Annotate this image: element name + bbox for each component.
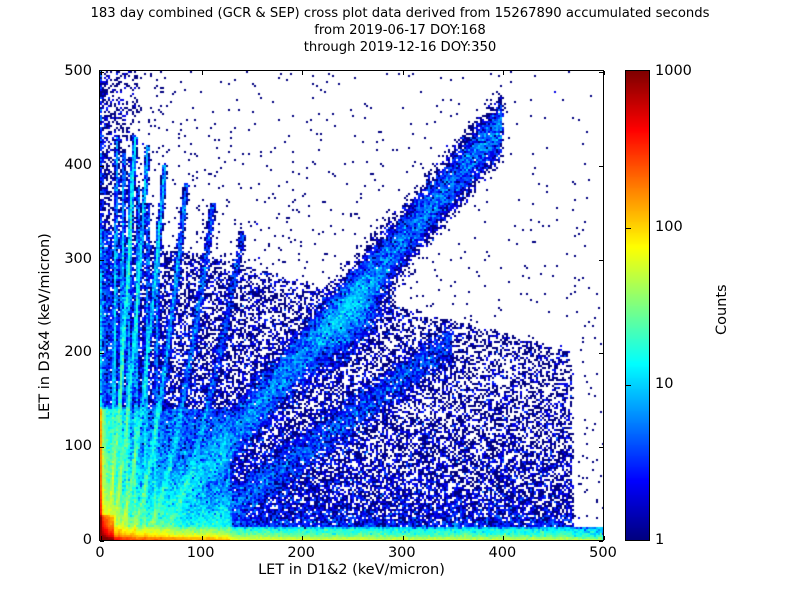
colorbar-gradient bbox=[626, 71, 649, 540]
y-tick-label: 300 bbox=[64, 251, 92, 267]
y-tick-mark bbox=[100, 72, 104, 73]
colorbar-tick-mark bbox=[626, 385, 631, 386]
colorbar-tick-mark bbox=[626, 228, 631, 229]
colorbar-tick-label: 100 bbox=[655, 219, 683, 235]
colorbar-tick-label: 1 bbox=[655, 532, 664, 548]
y-tick-mark bbox=[599, 541, 603, 542]
y-tick-mark bbox=[599, 447, 603, 448]
colorbar-tick-label: 1000 bbox=[655, 63, 692, 79]
x-tick-mark bbox=[202, 71, 203, 75]
x-tick-mark bbox=[302, 71, 303, 75]
x-tick-mark bbox=[604, 536, 605, 540]
y-tick-label: 100 bbox=[64, 438, 92, 454]
colorbar bbox=[625, 70, 650, 541]
x-tick-label: 300 bbox=[388, 545, 416, 561]
figure-canvas: 183 day combined (GCR & SEP) cross plot … bbox=[0, 0, 800, 600]
y-tick-mark bbox=[100, 447, 104, 448]
x-axis-label: LET in D1&2 (keV/micron) bbox=[99, 562, 604, 578]
y-tick-mark bbox=[100, 353, 104, 354]
colorbar-label: Counts bbox=[714, 284, 730, 335]
x-tick-label: 400 bbox=[489, 545, 517, 561]
y-tick-mark bbox=[100, 166, 104, 167]
x-tick-label: 100 bbox=[187, 545, 215, 561]
x-tick-mark bbox=[403, 536, 404, 540]
x-tick-mark bbox=[101, 536, 102, 540]
y-tick-mark bbox=[599, 353, 603, 354]
x-tick-mark bbox=[503, 536, 504, 540]
y-tick-label: 200 bbox=[64, 344, 92, 360]
title-line-2: from 2019-06-17 DOY:168 bbox=[0, 22, 800, 39]
heatmap-scatter-area bbox=[100, 71, 603, 540]
x-tick-mark bbox=[202, 536, 203, 540]
y-axis-label: LET in D3&4 (keV/micron) bbox=[37, 233, 53, 420]
x-tick-label: 200 bbox=[287, 545, 315, 561]
x-tick-mark bbox=[403, 71, 404, 75]
colorbar-tick-label: 10 bbox=[655, 376, 673, 392]
y-tick-mark bbox=[599, 72, 603, 73]
y-tick-label: 0 bbox=[83, 532, 92, 548]
title-line-3: through 2019-12-16 DOY:350 bbox=[0, 39, 800, 56]
x-tick-mark bbox=[503, 71, 504, 75]
x-tick-mark bbox=[302, 536, 303, 540]
plot-axes bbox=[99, 70, 604, 541]
x-tick-label: 0 bbox=[95, 545, 104, 561]
y-tick-mark bbox=[599, 166, 603, 167]
y-tick-label: 500 bbox=[64, 63, 92, 79]
y-tick-mark bbox=[599, 260, 603, 261]
y-tick-mark bbox=[100, 260, 104, 261]
title-line-1: 183 day combined (GCR & SEP) cross plot … bbox=[0, 5, 800, 22]
y-tick-mark bbox=[100, 541, 104, 542]
x-tick-mark bbox=[604, 71, 605, 75]
x-tick-label: 500 bbox=[589, 545, 617, 561]
plot-title: 183 day combined (GCR & SEP) cross plot … bbox=[0, 5, 800, 56]
y-tick-label: 400 bbox=[64, 157, 92, 173]
